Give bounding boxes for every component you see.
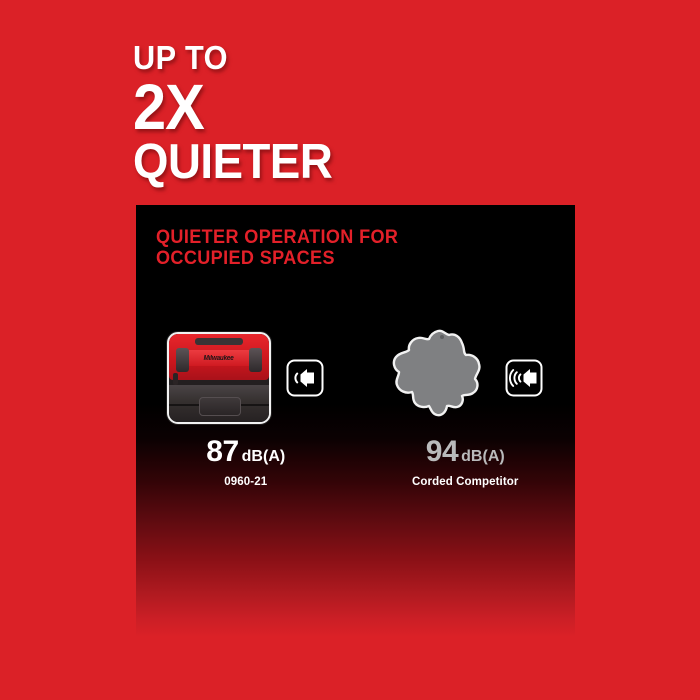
- milwaukee-db-value: 87: [206, 435, 238, 468]
- milwaukee-visual-row: Milwaukee: [167, 323, 325, 433]
- milwaukee-model-label: 0960-21: [206, 476, 285, 488]
- headline-line-quieter: QUIETER: [133, 139, 524, 186]
- headline-line-up-to: UP TO: [133, 42, 524, 74]
- panel-header-line-2: OCCUPIED SPACES: [156, 248, 536, 269]
- competitor-label: Corded Competitor: [412, 476, 518, 488]
- infographic-root: UP TO 2X QUIETER QUIETER OPERATION FOR O…: [0, 0, 700, 700]
- vacuum-latch-left: [176, 348, 189, 372]
- vacuum-handle: [195, 338, 243, 345]
- speaker-loud-icon: [504, 358, 544, 398]
- vacuum-front-panel: [199, 397, 241, 416]
- comparison-column-milwaukee: Milwaukee: [136, 323, 356, 563]
- headline-block: UP TO 2X QUIETER: [133, 42, 553, 186]
- competitor-stats: 94dB(A) Corded Competitor: [412, 437, 518, 488]
- vacuum-tank: [169, 385, 269, 422]
- vacuum-vent: [173, 373, 178, 385]
- competitor-silhouette-blob-icon: [386, 328, 490, 428]
- vacuum-latch-right: [249, 348, 262, 372]
- vacuum-brand-band: Milwaukee: [187, 350, 251, 366]
- competitor-db-value: 94: [426, 435, 458, 468]
- competitor-db-unit: dB(A): [461, 448, 505, 465]
- milwaukee-stats: 87dB(A) 0960-21: [206, 437, 285, 488]
- headline-line-2x: 2X: [133, 77, 524, 138]
- speaker-quiet-icon: [285, 358, 325, 398]
- milwaukee-wet-dry-vacuum-icon: Milwaukee: [167, 332, 271, 424]
- competitor-stat-main: 94dB(A): [412, 437, 518, 467]
- comparison-panel: QUIETER OPERATION FOR OCCUPIED SPACES Mi…: [136, 205, 575, 637]
- comparison-row: Milwaukee: [136, 323, 575, 563]
- comparison-column-competitor: 94dB(A) Corded Competitor: [356, 323, 576, 563]
- milwaukee-db-unit: dB(A): [242, 448, 286, 465]
- panel-header: QUIETER OPERATION FOR OCCUPIED SPACES: [156, 227, 556, 270]
- competitor-visual-row: [386, 323, 544, 433]
- milwaukee-stat-main: 87dB(A): [206, 437, 285, 467]
- milwaukee-wordmark: Milwaukee: [204, 355, 234, 362]
- panel-header-line-1: QUIETER OPERATION FOR: [156, 227, 536, 248]
